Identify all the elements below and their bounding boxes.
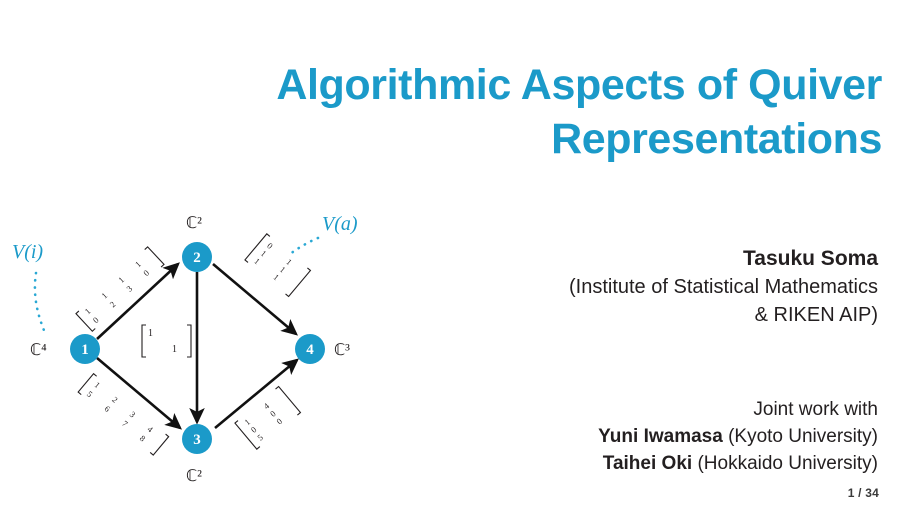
quiver-node-2[interactable]: 2 <box>182 242 212 272</box>
author-affiliation-line-2: & RIKEN AIP) <box>458 301 878 329</box>
m13-r0c3: 4 <box>145 424 155 435</box>
title-slide: Algorithmic Aspects of Quiver Representa… <box>0 0 907 510</box>
joint-work-lead: Joint work with <box>448 396 878 423</box>
collaborator-2-affiliation: (Hokkaido University) <box>692 453 878 474</box>
arrow-annotation-label: V(a) <box>322 213 358 235</box>
author-affiliation-line-1: (Institute of Statistical Mathematics <box>458 273 878 301</box>
quiver-node-2-number: 2 <box>193 250 201 266</box>
collaborator-1: Yuni Iwamasa (Kyoto University) <box>448 423 878 450</box>
quiver-node-1-number: 1 <box>81 342 89 358</box>
quiver-node-3-number: 3 <box>193 432 201 448</box>
joint-work-block: Joint work with Yuni Iwamasa (Kyoto Univ… <box>448 396 878 477</box>
m23-r1c1: 1 <box>172 344 177 355</box>
collaborator-1-affiliation: (Kyoto University) <box>723 426 878 447</box>
collaborator-1-name: Yuni Iwamasa <box>598 426 723 447</box>
quiver-node-3[interactable]: 3 <box>182 424 212 454</box>
m12-r1c3: 0 <box>141 268 151 278</box>
m24-r2c0: 1 <box>252 256 262 266</box>
page-title: Algorithmic Aspects of Quiver Representa… <box>150 58 882 166</box>
author-name: Tasuku Soma <box>458 244 878 273</box>
collaborator-2: Taihei Oki (Hokkaido University) <box>448 450 878 477</box>
m12-r1c1: 2 <box>108 299 118 309</box>
title-line-2: Representations <box>150 112 882 166</box>
quiver-node-4[interactable]: 4 <box>295 334 325 364</box>
matrix-label-edge-2-3: 1 1 <box>142 325 191 357</box>
space-label-node-3: ℂ² <box>186 468 202 485</box>
space-label-node-2: ℂ² <box>186 215 202 232</box>
author-block: Tasuku Soma (Institute of Statistical Ma… <box>458 244 878 329</box>
matrix-label-edge-1-3: 1 2 3 4 5 6 7 8 <box>78 374 168 455</box>
m24-r2c1: 1 <box>272 272 282 282</box>
m13-r1c3: 8 <box>138 433 148 443</box>
m13-r1c2: 7 <box>120 418 130 428</box>
m13-r1c0: 5 <box>85 389 95 399</box>
m13-r0c0: 1 <box>93 380 103 390</box>
m12-r1c0: 0 <box>91 315 101 325</box>
quiver-node-4-number: 4 <box>306 342 314 358</box>
m12-r0c3: 1 <box>133 259 143 269</box>
edge-1-to-3 <box>97 358 180 428</box>
m12-r0c2: 1 <box>116 275 126 285</box>
m13-r0c2: 3 <box>128 409 138 419</box>
collaborator-2-name: Taihei Oki <box>603 453 692 474</box>
space-label-node-1: ℂ⁴ <box>30 342 47 359</box>
vertex-annotation-label: V(i) <box>12 241 43 263</box>
space-label-node-4: ℂ³ <box>334 342 350 359</box>
m12-r0c0: 1 <box>82 306 92 316</box>
page-number: 1 / 34 <box>848 486 879 500</box>
edge-2-to-4 <box>213 264 296 334</box>
title-line-1: Algorithmic Aspects of Quiver <box>150 58 882 112</box>
quiver-diagram: 1 2 3 4 ℂ⁴ ℂ² ℂ² ℂ³ V(i) V(a) <box>0 200 400 500</box>
quiver-node-1[interactable]: 1 <box>70 334 100 364</box>
m13-r0c1: 2 <box>110 394 120 404</box>
matrix-label-edge-3-4: 1 4 0 0 5 0 <box>235 386 301 449</box>
m23-r0c0: 1 <box>148 328 153 339</box>
m13-r1c1: 6 <box>103 404 113 414</box>
m12-r1c2: 3 <box>124 283 134 293</box>
matrix-label-edge-2-4: 0 1 1 1 1 1 <box>245 234 311 297</box>
arrow-annotation-pointer <box>290 238 318 254</box>
vertex-annotation-pointer <box>35 273 45 333</box>
m34-r2c1: 0 <box>274 416 284 426</box>
m34-r2c0: 5 <box>255 432 265 442</box>
m12-r0c1: 1 <box>99 290 109 300</box>
